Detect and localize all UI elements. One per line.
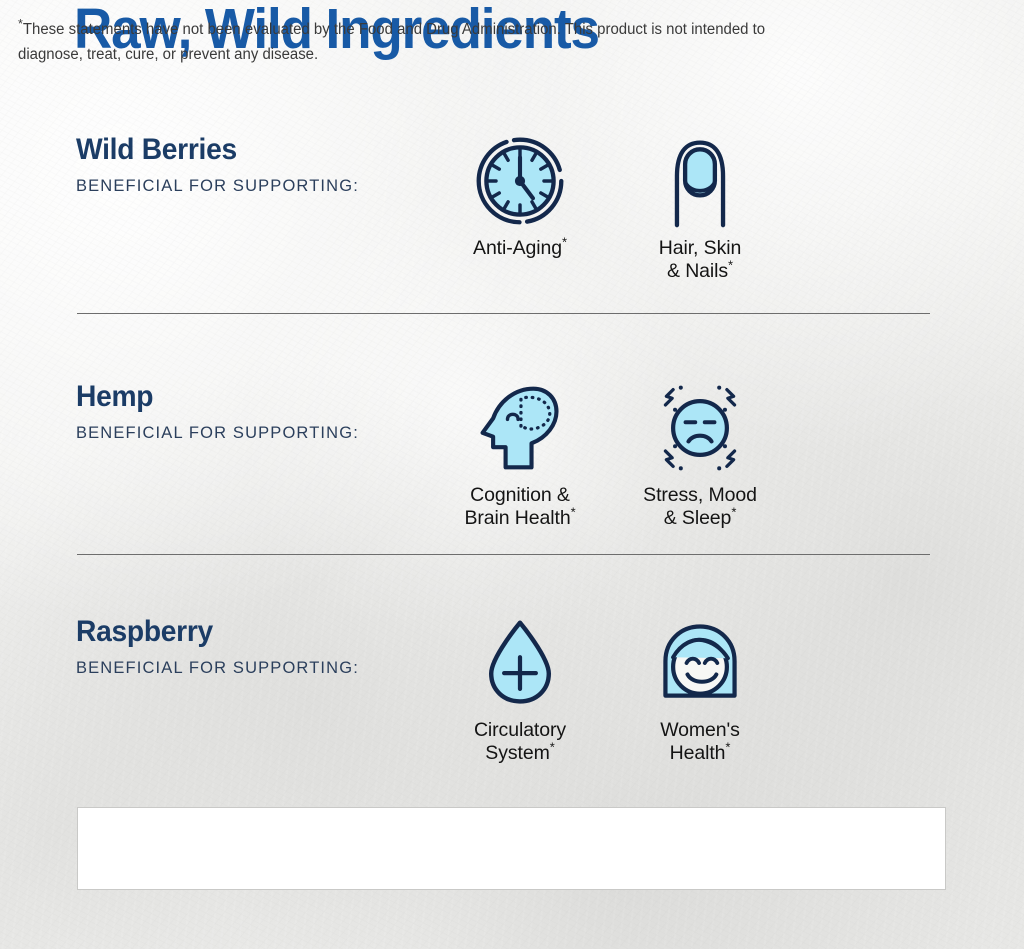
benefit-list: Circulatory System* Women's Health* xyxy=(430,615,950,765)
benefit-item: Hair, Skin & Nails* xyxy=(610,133,790,283)
benefit-item: Anti-Aging* xyxy=(430,133,610,260)
benefit-list: Anti-Aging* Hair, Skin & Nails* xyxy=(430,133,950,283)
footnote-star: * xyxy=(562,235,567,250)
benefit-item: Women's Health* xyxy=(610,615,790,765)
section-title: Wild Berries xyxy=(76,133,237,167)
footnote-star: * xyxy=(728,258,733,273)
footnote-star: * xyxy=(731,505,736,520)
benefit-label: Women's Health* xyxy=(660,719,740,765)
footnote-star: * xyxy=(550,740,555,755)
benefit-item: Circulatory System* xyxy=(430,615,610,765)
section-subheading: BENEFICIAL FOR SUPPORTING: xyxy=(76,177,359,196)
head-brain-icon xyxy=(472,380,568,476)
stressed-face-icon xyxy=(652,380,748,476)
section-divider xyxy=(77,313,930,314)
footnote-star: * xyxy=(571,505,576,520)
benefit-label: Circulatory System* xyxy=(474,719,566,765)
clock-icon xyxy=(472,133,568,229)
section-subheading: BENEFICIAL FOR SUPPORTING: xyxy=(76,659,359,678)
benefit-label: Cognition & Brain Health* xyxy=(464,484,575,530)
section-title: Hemp xyxy=(76,380,153,414)
footnote-star: * xyxy=(725,740,730,755)
disclaimer-text: *These statements have not been evaluate… xyxy=(18,17,824,67)
section-subheading: BENEFICIAL FOR SUPPORTING: xyxy=(76,424,359,443)
benefit-item: Cognition & Brain Health* xyxy=(430,380,610,530)
benefit-label: Stress, Mood & Sleep* xyxy=(643,484,757,530)
womans-face-icon xyxy=(652,615,748,711)
benefit-item: Stress, Mood & Sleep* xyxy=(610,380,790,530)
benefit-list: Cognition & Brain Health* xyxy=(430,380,950,530)
blood-drop-plus-icon xyxy=(472,615,568,711)
disclaimer-box xyxy=(77,807,946,890)
section-divider xyxy=(77,554,930,555)
benefit-label: Anti-Aging* xyxy=(473,237,567,260)
fingernail-icon xyxy=(652,133,748,229)
section-title: Raspberry xyxy=(76,615,213,649)
ingredients-infographic: Raw, Wild Ingredients Wild Berries BENEF… xyxy=(0,0,1024,949)
benefit-label: Hair, Skin & Nails* xyxy=(659,237,741,283)
